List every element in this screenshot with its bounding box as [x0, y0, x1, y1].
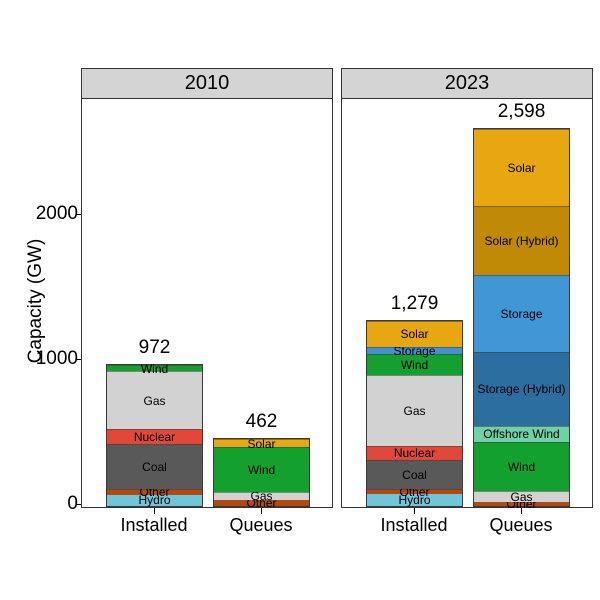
bar-segment-solar[interactable]: Solar	[367, 321, 462, 348]
bar-segment-other[interactable]: Other	[474, 502, 569, 506]
bar-segment-label: Hydro	[398, 494, 430, 506]
facet-label-2023: 2023	[342, 69, 592, 99]
bar-segment-label: Solar	[400, 328, 428, 340]
bar-segment-wind[interactable]: Wind	[214, 447, 309, 492]
bar-segment-label: Offshore Wind	[483, 428, 559, 440]
facet-panel-2023: 2023 HydroOtherCoalNuclearGasWindStorage…	[341, 68, 593, 508]
bar-segment-label: Hydro	[138, 494, 170, 506]
bar-segment-wind[interactable]: Wind	[367, 354, 462, 375]
bar-segment-label: Storage	[500, 308, 542, 320]
bar-segment-wind[interactable]: Wind	[474, 442, 569, 491]
bar-2010-installed[interactable]: HydroOtherCoalNuclearGasWind972	[106, 364, 203, 507]
bar-segment-hydro[interactable]: Hydro	[367, 494, 462, 506]
bar-segment-label: Wind	[248, 464, 275, 476]
bar-segment-label: Nuclear	[394, 447, 435, 459]
bar-segment-nuclear[interactable]: Nuclear	[107, 429, 202, 443]
bar-segment-label: Wind	[401, 359, 428, 371]
bar-segment-gas[interactable]: Gas	[107, 371, 202, 429]
bar-segment-label: Nuclear	[134, 431, 175, 443]
bar-segment-label: Gas	[510, 491, 532, 503]
bar-segment-other[interactable]: Other	[367, 489, 462, 495]
x-tick-label-queues: Queues	[196, 515, 326, 536]
bar-segment-other[interactable]: Other	[214, 500, 309, 506]
bar-segment-storage[interactable]: Storage	[474, 275, 569, 352]
bar-segment-solar[interactable]: Solar	[474, 129, 569, 206]
bar-total-label: 1,279	[391, 293, 439, 315]
bar-segment-solar[interactable]: Solar	[214, 439, 309, 447]
bar-segment-label: Gas	[143, 395, 165, 407]
y-tick-mark-2000	[76, 214, 81, 215]
bar-segment-other[interactable]: Other	[107, 489, 202, 495]
x-tick-mark-installed	[154, 508, 155, 514]
bar-segment-label: Gas	[403, 405, 425, 417]
y-tick-mark-1000	[76, 359, 81, 360]
plot-area-2023: HydroOtherCoalNuclearGasWindStorageSolar…	[342, 99, 592, 507]
x-tick-mark-installed	[414, 508, 415, 514]
bar-segment-hydro[interactable]: Hydro	[107, 495, 202, 506]
facet-panel-2010: 2010 HydroOtherCoalNuclearGasWind972Othe…	[81, 68, 333, 508]
bar-segment-label: Storage (Hybrid)	[477, 383, 565, 395]
bar-segment-gas[interactable]: Gas	[367, 375, 462, 446]
bar-2023-installed[interactable]: HydroOtherCoalNuclearGasWindStorageSolar…	[366, 320, 463, 507]
bar-segment-storage-hybrid[interactable]: Storage (Hybrid)	[474, 352, 569, 426]
bar-segment-label: Solar	[507, 162, 535, 174]
bar-segment-label: Solar (Hybrid)	[484, 235, 558, 247]
bar-segment-label: Wind	[508, 461, 535, 473]
bar-segment-solar-hybrid[interactable]: Solar (Hybrid)	[474, 206, 569, 275]
bar-segment-nuclear[interactable]: Nuclear	[367, 446, 462, 460]
y-tick-mark-0	[76, 504, 81, 505]
bar-segment-gas[interactable]: Gas	[474, 491, 569, 503]
bar-segment-offshore-wind[interactable]: Offshore Wind	[474, 426, 569, 442]
y-tick-label-0: 0	[8, 493, 78, 515]
x-tick-mark-queues	[521, 508, 522, 514]
bar-segment-label: Coal	[402, 469, 427, 481]
facet-label-2010: 2010	[82, 69, 332, 99]
bar-2010-queues[interactable]: OtherGasWindSolar462	[213, 438, 310, 507]
bar-total-label: 972	[139, 337, 171, 359]
bar-segment-gas[interactable]: Gas	[214, 492, 309, 500]
bar-segment-coal[interactable]: Coal	[367, 460, 462, 489]
bar-segment-label: Coal	[142, 461, 167, 473]
y-tick-label-1000: 1000	[8, 348, 78, 370]
bar-total-label: 462	[246, 411, 278, 433]
x-tick-mark-queues	[261, 508, 262, 514]
capacity-stacked-bar-chart: Capacity (GW) 2010 HydroOtherCoalNuclear…	[0, 0, 600, 600]
bar-segment-wind[interactable]: Wind	[107, 365, 202, 371]
bar-segment-storage[interactable]: Storage	[367, 347, 462, 354]
bar-2023-queues[interactable]: OtherGasWindOffshore WindStorage (Hybrid…	[473, 128, 570, 507]
plot-area-2010: HydroOtherCoalNuclearGasWind972OtherGasW…	[82, 99, 332, 507]
y-tick-label-2000: 2000	[8, 203, 78, 225]
bar-segment-coal[interactable]: Coal	[107, 444, 202, 489]
x-tick-label-queues: Queues	[456, 515, 586, 536]
bar-total-label: 2,598	[498, 101, 546, 123]
